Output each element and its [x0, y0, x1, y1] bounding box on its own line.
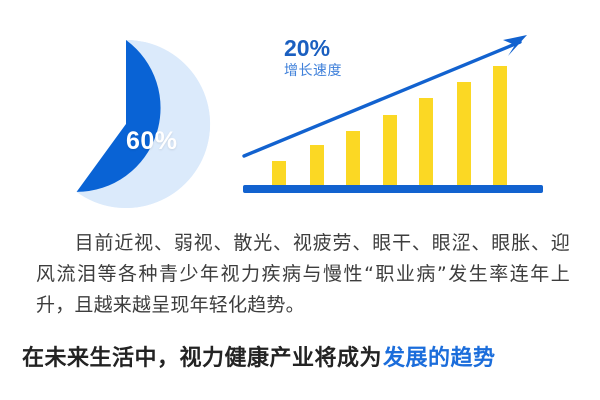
bar-series [272, 66, 507, 186]
bar-3 [346, 131, 360, 186]
headline-accent-text: 发展的趋势 [383, 346, 496, 371]
pie-percentage-label: 60% [126, 129, 198, 154]
bar-1 [272, 161, 286, 186]
body-paragraph: 目前近视、弱视、散光、视疲劳、眼干、眼涩、眼胀、迎风流泪等各种青少年视力疾病与慢… [36, 228, 570, 321]
bar-4 [383, 115, 397, 186]
pie-chart [40, 38, 212, 210]
chart-baseline [243, 185, 543, 193]
bar-7 [493, 66, 507, 186]
growth-percentage: 20% [284, 36, 394, 61]
growth-annotation: 20% 增长速度 [284, 36, 394, 79]
headline: 在未来生活中，视力健康产业将成为发展的趋势 [22, 344, 582, 374]
growth-caption: 增长速度 [284, 63, 394, 78]
bar-5 [419, 98, 433, 186]
infographic-graphics-area: 60% [0, 0, 600, 215]
trend-arrow-head [503, 35, 527, 56]
headline-lead-text: 在未来生活中，视力健康产业将成为 [22, 346, 382, 371]
paragraph-text: 目前近视、弱视、散光、视疲劳、眼干、眼涩、眼胀、迎风流泪等各种青少年视力疾病与慢… [36, 232, 570, 316]
bar-2 [310, 145, 324, 186]
pie-chart-svg [40, 38, 212, 210]
infographic-canvas: 60% [0, 0, 600, 400]
bar-6 [457, 82, 471, 186]
